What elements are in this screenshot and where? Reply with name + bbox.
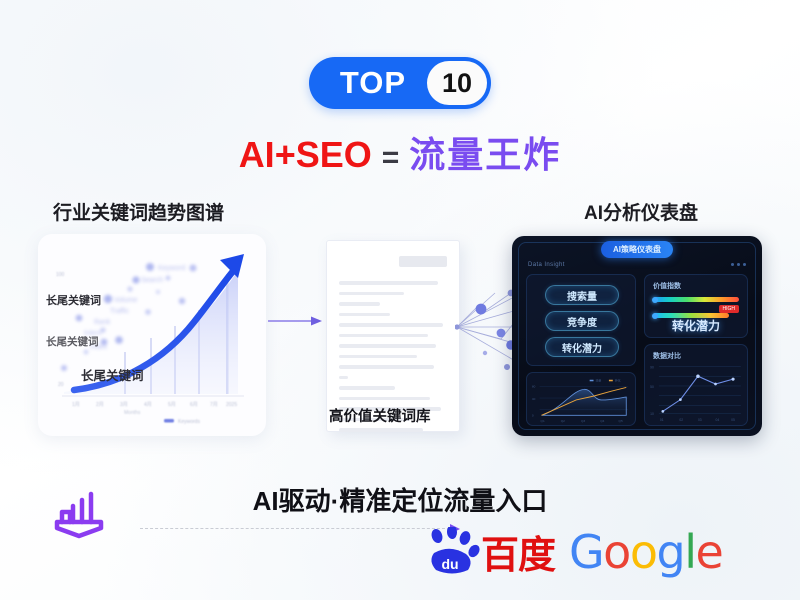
- line-chart-ticks: 905010 010203 0405: [650, 365, 735, 422]
- document-line: [339, 313, 390, 317]
- trend-keyword-label: 长尾关键词: [46, 334, 99, 349]
- headline-traffic: 流量王炸: [409, 134, 561, 175]
- dashboard-title-badge: AI策略仪表盘: [601, 241, 673, 258]
- document-line: [339, 397, 430, 401]
- metric-pill-search-volume[interactable]: 搜索量: [545, 285, 619, 305]
- section-label-trend: 行业关键词趋势图谱: [53, 198, 224, 225]
- document-line: [339, 376, 348, 380]
- value-gauge-panel: 价值指数 HIGH 转化潜力: [644, 274, 748, 338]
- area-chart-series: [542, 389, 627, 415]
- line-chart-series: [663, 376, 733, 411]
- ai-dashboard-card: AI策略仪表盘 Data Insight 搜索量 竞争度 转化潜力 价值指数 H…: [512, 236, 762, 436]
- svg-text:6月: 6月: [190, 402, 198, 408]
- svg-text:Q5: Q5: [619, 419, 623, 423]
- partner-logos: du 百度 Google: [424, 524, 722, 579]
- baidu-paw-icon: du: [424, 527, 480, 577]
- document-line: [339, 428, 423, 432]
- svg-text:90: 90: [650, 365, 654, 369]
- section-label-dashboard: AI分析仪表盘: [584, 198, 698, 225]
- svg-text:4月: 4月: [144, 402, 152, 408]
- svg-text:2025: 2025: [226, 402, 237, 408]
- svg-text:0: 0: [532, 413, 534, 417]
- svg-text:Volume: Volume: [114, 297, 137, 304]
- metric-pill-competition[interactable]: 竞争度: [545, 311, 619, 331]
- baidu-mark-text: du: [441, 556, 458, 572]
- gauge-status-tag: HIGH: [719, 305, 740, 313]
- svg-text:03: 03: [698, 418, 702, 422]
- flow-arrow-icon: [268, 314, 324, 328]
- line-chart-points: [661, 374, 734, 412]
- gauge-knob-primary[interactable]: [652, 297, 658, 303]
- google-letter: g: [656, 525, 684, 579]
- trend-chart-card: Keyword Search Volume Traffic Rank Inten…: [38, 234, 266, 436]
- svg-text:Rank: Rank: [94, 319, 111, 326]
- svg-text:7月: 7月: [210, 402, 218, 408]
- svg-text:40: 40: [532, 397, 536, 401]
- svg-text:流量: 流量: [595, 378, 601, 383]
- svg-text:04: 04: [716, 418, 720, 422]
- top-badge: TOP 10: [309, 57, 491, 109]
- svg-text:Q4: Q4: [600, 419, 604, 423]
- gauge-overlay-label: 转化潜力: [645, 317, 747, 334]
- svg-text:100: 100: [56, 272, 65, 278]
- document-line: [339, 355, 417, 359]
- trend-keyword-label: 长尾关键词: [81, 365, 144, 384]
- dashboard-menu-dots[interactable]: [731, 263, 746, 266]
- trend-keyword-label: 长尾关键词: [46, 292, 101, 308]
- document-line: [339, 334, 428, 338]
- svg-text:Q1: Q1: [541, 419, 545, 423]
- document-line: [339, 386, 395, 390]
- svg-text:Traffic: Traffic: [110, 308, 130, 315]
- document-line: [339, 281, 438, 285]
- document-line: [339, 323, 443, 327]
- baidu-logo: du 百度: [424, 524, 555, 579]
- top-badge-number: 10: [427, 61, 487, 105]
- svg-text:Months: Months: [124, 410, 141, 416]
- svg-text:转化: 转化: [615, 378, 621, 383]
- document-line: [339, 292, 404, 296]
- svg-text:3月: 3月: [120, 402, 128, 408]
- trend-area-panel: 80400 Q1Q2Q3 Q4Q5 流量 转化: [526, 372, 636, 426]
- comparison-line-chart: 905010 010203 0405: [645, 345, 747, 425]
- keyword-document-card: [326, 240, 460, 432]
- trend-legend: Keywords Months: [124, 410, 200, 425]
- svg-text:80: 80: [532, 384, 536, 388]
- svg-text:10: 10: [650, 412, 654, 416]
- page-title: AI+SEO=流量王炸: [0, 126, 800, 178]
- svg-text:01: 01: [660, 418, 664, 422]
- google-logo: Google: [569, 529, 722, 575]
- document-line: [339, 302, 380, 306]
- document-header-block: [399, 256, 447, 267]
- metric-pill-conversion[interactable]: 转化潜力: [545, 337, 619, 357]
- svg-text:Q2: Q2: [561, 419, 565, 423]
- headline-ai-seo: AI+SEO: [239, 134, 372, 175]
- document-line: [339, 344, 436, 348]
- google-letter: o: [630, 525, 657, 579]
- google-letter: l: [684, 525, 695, 579]
- google-letter: e: [695, 525, 722, 579]
- svg-text:Search: Search: [141, 277, 163, 284]
- document-line: [339, 365, 434, 369]
- baidu-wordmark: 百度: [481, 524, 555, 579]
- svg-text:20: 20: [58, 382, 64, 388]
- dashed-divider: [140, 528, 450, 530]
- svg-text:5月: 5月: [168, 402, 176, 408]
- trend-area-chart: 80400 Q1Q2Q3 Q4Q5 流量 转化: [527, 373, 635, 425]
- document-card-label: 高价值关键词库: [329, 405, 431, 426]
- top-badge-word: TOP: [309, 65, 427, 101]
- comparison-line-panel: 数据对比 905010 010203 0405: [644, 344, 748, 426]
- svg-text:2月: 2月: [96, 402, 104, 408]
- svg-text:Q3: Q3: [581, 419, 585, 423]
- svg-text:02: 02: [679, 418, 683, 422]
- svg-text:05: 05: [731, 418, 735, 422]
- bottom-tagline: AI驱动·精准定位流量入口: [0, 481, 800, 518]
- google-letter: o: [603, 525, 630, 579]
- google-letter: G: [569, 525, 603, 579]
- metric-pills-panel: 搜索量 竞争度 转化潜力: [526, 274, 636, 366]
- area-chart-legend: 流量 转化: [590, 378, 621, 383]
- svg-text:1月: 1月: [72, 402, 80, 408]
- svg-text:Keywords: Keywords: [178, 419, 200, 425]
- dashboard-subtitle: Data Insight: [528, 262, 565, 268]
- svg-text:50: 50: [650, 385, 654, 389]
- gauge-panel-title: 价值指数: [653, 281, 681, 291]
- svg-text:Keyword: Keyword: [158, 265, 185, 272]
- gauge-bar-primary: [653, 297, 739, 302]
- headline-equals: =: [382, 141, 400, 174]
